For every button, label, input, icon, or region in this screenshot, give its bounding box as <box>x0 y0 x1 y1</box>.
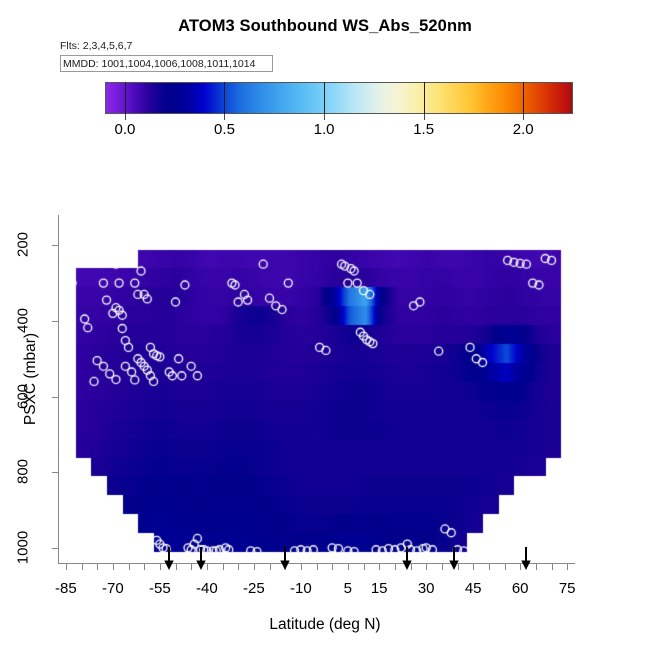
y-axis-label: PSXC (mbar) <box>22 319 40 439</box>
down-arrow-icon <box>402 547 413 570</box>
colorbar-tick-label: 1.0 <box>314 121 335 138</box>
x-axis-tick <box>160 564 161 570</box>
down-arrow-icon <box>280 547 291 570</box>
x-axis-tick <box>567 564 568 570</box>
x-axis-tick <box>552 564 553 570</box>
y-axis-tick-label: 200 <box>15 222 32 268</box>
x-axis-tick-label: -70 <box>102 580 124 597</box>
colorbar-tick <box>125 82 126 114</box>
x-axis-tick <box>176 564 177 570</box>
colorbar <box>105 82 573 114</box>
x-axis-tick <box>364 564 365 570</box>
heatmap-plot-area <box>58 215 575 563</box>
x-axis-tick <box>191 564 192 570</box>
x-axis-tick <box>66 564 67 570</box>
x-axis-tick <box>317 564 318 570</box>
x-axis-tick <box>238 564 239 570</box>
x-axis-tick <box>379 564 380 570</box>
colorbar-tick-stem <box>125 114 126 120</box>
down-arrow-icon <box>449 547 460 570</box>
x-axis-tick <box>207 564 208 570</box>
x-axis-tick <box>97 564 98 570</box>
x-axis-tick-label: 75 <box>559 580 576 597</box>
x-axis-label: Latitude (deg N) <box>0 616 650 634</box>
colorbar-tick-label: 2.0 <box>513 121 534 138</box>
colorbar-tick-stem <box>424 114 425 120</box>
figure-root: ATOM3 Southbound WS_Abs_520nm Flts: 2,3,… <box>0 0 650 650</box>
mmdd-annotation: MMDD: 1001,1004,1006,1008,1011,1014 <box>63 58 255 70</box>
x-axis-tick <box>536 564 537 570</box>
x-axis-tick-label: -25 <box>243 580 265 597</box>
colorbar-tick-stem <box>523 114 524 120</box>
colorbar-tick-label: 0.5 <box>214 121 235 138</box>
colorbar-tick <box>324 82 325 114</box>
colorbar-tick-label: 0.0 <box>114 121 135 138</box>
x-axis-tick <box>144 564 145 570</box>
x-axis-tick-label: 45 <box>465 580 482 597</box>
colorbar-tick-label: 1.5 <box>413 121 434 138</box>
down-arrow-icon <box>164 547 175 570</box>
x-axis-tick-label: 15 <box>371 580 388 597</box>
heatmap-canvas <box>58 215 575 563</box>
x-axis-tick <box>426 564 427 570</box>
x-axis-tick <box>254 564 255 570</box>
x-axis-tick <box>113 564 114 570</box>
colorbar-tick-stem <box>324 114 325 120</box>
colorbar-tick-stem <box>224 114 225 120</box>
x-axis-tick <box>301 564 302 570</box>
colorbar-tick <box>224 82 225 114</box>
x-axis-tick-label: 5 <box>344 580 352 597</box>
x-axis-tick-label: -10 <box>290 580 312 597</box>
x-axis-tick <box>348 564 349 570</box>
x-axis-tick <box>473 564 474 570</box>
x-axis-tick <box>395 564 396 570</box>
colorbar-tick <box>523 82 524 114</box>
y-axis-tick-label: 1000 <box>15 524 32 570</box>
x-axis-tick <box>332 564 333 570</box>
down-arrow-icon <box>195 547 206 570</box>
x-axis-tick <box>82 564 83 570</box>
x-axis-tick <box>489 564 490 570</box>
x-axis-tick <box>270 564 271 570</box>
x-axis-tick-label: -85 <box>55 580 77 597</box>
x-axis-tick <box>129 564 130 570</box>
chart-title: ATOM3 Southbound WS_Abs_520nm <box>0 17 650 36</box>
x-axis-tick-label: -40 <box>196 580 218 597</box>
flights-annotation: Flts: 2,3,4,5,6,7 <box>60 40 132 52</box>
down-arrow-icon <box>521 547 532 570</box>
y-axis-tick-label: 800 <box>15 449 32 495</box>
colorbar-tick <box>424 82 425 114</box>
x-axis-tick-label: 30 <box>418 580 435 597</box>
x-axis-tick-label: 60 <box>512 580 529 597</box>
x-axis-tick <box>223 564 224 570</box>
x-axis-tick-label: -55 <box>149 580 171 597</box>
x-axis-tick <box>442 564 443 570</box>
x-axis-tick <box>505 564 506 570</box>
